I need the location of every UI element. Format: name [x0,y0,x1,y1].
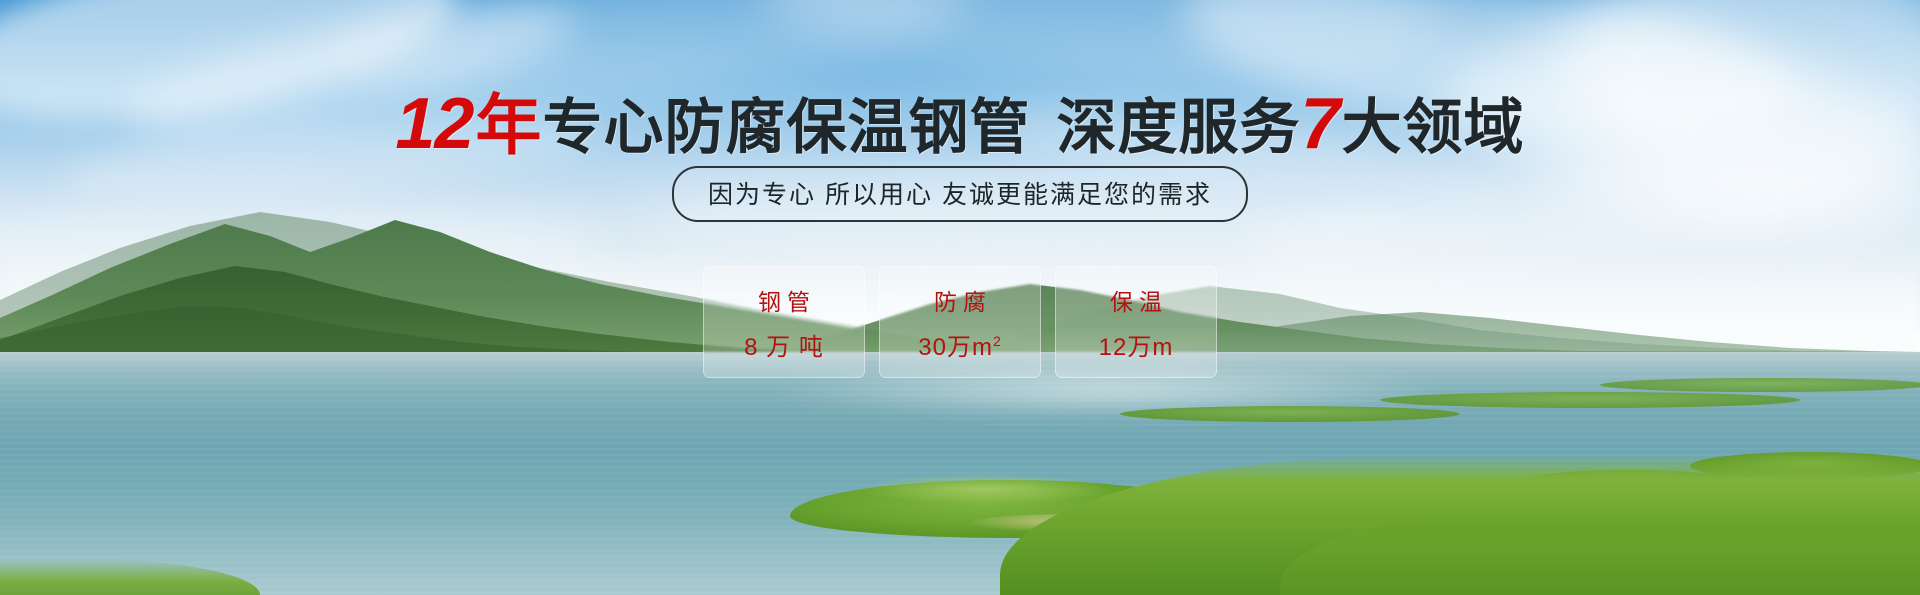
stat-card-value-superscript: 2 [993,333,1002,349]
stat-card-label: 防腐 [928,283,992,317]
stat-card[interactable]: 防腐 30万m2 [879,266,1041,378]
stat-card-value-base: 8 万 吨 [744,334,824,361]
headline-years-unit: 年 [476,88,543,162]
subtitle-container: 因为专心 所以用心 友诚更能满足您的需求 [0,166,1920,222]
stat-card-value: 8 万 吨 [744,327,824,362]
headline-main-text: 专心防腐保温钢管 [543,94,1031,161]
promo-banner: 12年专心防腐保温钢管深度服务7大领域 因为专心 所以用心 友诚更能满足您的需求… [0,0,1920,595]
subtitle-pill: 因为专心 所以用心 友诚更能满足您的需求 [672,166,1248,222]
stat-card-label: 保温 [1104,283,1168,317]
stat-card-value: 30万m2 [918,327,1001,362]
headline-years-number: 12 [395,84,475,164]
stat-card-value: 12万m [1099,327,1174,362]
headline: 12年专心防腐保温钢管深度服务7大领域 [0,88,1920,160]
headline-fields-number: 7 [1301,84,1342,164]
stat-card-value-base: 30万m [918,334,993,361]
stat-card[interactable]: 钢管 8 万 吨 [703,266,865,378]
stat-card-value-base: 12万m [1099,334,1174,361]
stat-card[interactable]: 保温 12万m [1055,266,1217,378]
headline-fields-text: 大领域 [1342,94,1525,161]
headline-service-text: 深度服务 [1031,94,1301,161]
stat-card-label: 钢管 [752,283,816,317]
banner-content: 12年专心防腐保温钢管深度服务7大领域 因为专心 所以用心 友诚更能满足您的需求… [0,0,1920,595]
stat-cards: 钢管 8 万 吨 防腐 30万m2 保温 12万m [0,266,1920,378]
